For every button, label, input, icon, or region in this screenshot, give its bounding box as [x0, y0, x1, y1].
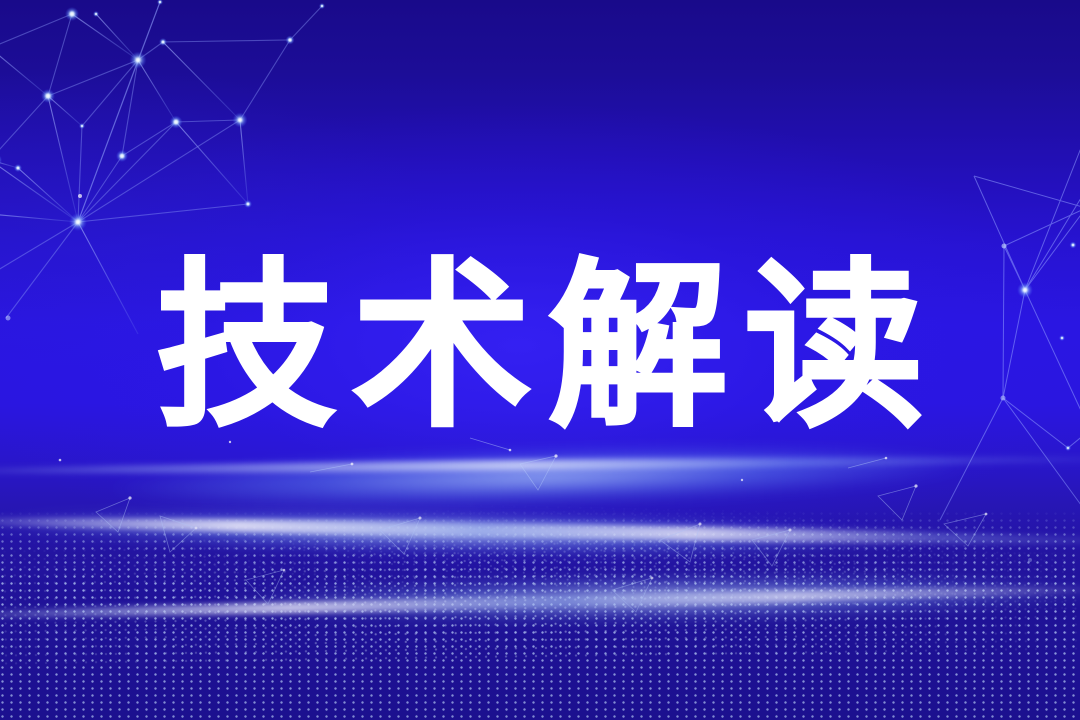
wave-color-tint [0, 420, 1080, 720]
particle-wave [0, 420, 1080, 720]
tech-banner: 技术解读 [0, 0, 1080, 720]
headline: 技术解读 [0, 258, 1080, 438]
headline-text: 技术解读 [140, 258, 940, 438]
